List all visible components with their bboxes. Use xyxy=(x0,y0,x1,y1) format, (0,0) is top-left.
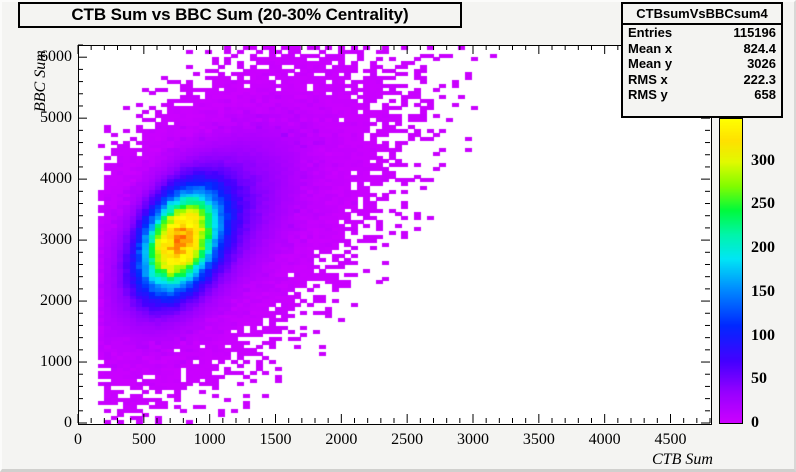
x-tick-label: 2000 xyxy=(311,431,371,449)
stat-label: RMS x xyxy=(628,72,668,88)
stat-row: Mean x824.4 xyxy=(623,41,781,57)
plot-title-box: CTB Sum vs BBC Sum (20-30% Centrality) xyxy=(18,2,462,28)
y-tick-label: 0 xyxy=(12,414,72,432)
x-tick-label: 500 xyxy=(114,431,174,449)
y-tick-label: 3000 xyxy=(12,231,72,249)
y-tick-label: 4000 xyxy=(12,170,72,188)
stat-label: Entries xyxy=(628,25,672,41)
palette-tick-label: 250 xyxy=(751,195,775,213)
stat-row: RMS x222.3 xyxy=(623,72,781,88)
stat-value: 222.3 xyxy=(743,72,776,88)
x-tick-label: 1500 xyxy=(246,431,306,449)
palette-tick-label: 200 xyxy=(751,239,775,257)
x-tick-label: 2500 xyxy=(377,431,437,449)
page-title: CTB Sum vs BBC Sum (20-30% Centrality) xyxy=(71,5,408,25)
y-tick-label: 1000 xyxy=(12,353,72,371)
x-tick-label: 3000 xyxy=(443,431,503,449)
plot-frame xyxy=(78,45,712,425)
histogram-canvas xyxy=(79,46,711,424)
stat-value: 824.4 xyxy=(743,41,776,57)
x-tick-label: 0 xyxy=(48,431,108,449)
statistics-box: CTBsumVsBBCsum4 Entries115196Mean x824.4… xyxy=(621,2,783,118)
stat-value: 115196 xyxy=(733,25,776,41)
stat-row: RMS y658 xyxy=(623,87,781,103)
y-axis-title: BBC Sum xyxy=(32,50,50,112)
palette-tick-label: 50 xyxy=(751,370,767,388)
color-palette xyxy=(719,118,743,424)
stat-label: RMS y xyxy=(628,87,668,103)
palette-tick-label: 100 xyxy=(751,327,775,345)
x-tick-label: 1000 xyxy=(180,431,240,449)
stats-rows: Entries115196Mean x824.4Mean y3026RMS x2… xyxy=(623,25,781,103)
stat-value: 658 xyxy=(754,87,776,103)
root-canvas: CTB Sum vs BBC Sum (20-30% Centrality) 0… xyxy=(0,0,796,472)
stat-label: Mean y xyxy=(628,56,672,72)
x-tick-label: 4500 xyxy=(641,431,701,449)
x-axis-title: CTB Sum xyxy=(652,451,713,469)
stat-row: Mean y3026 xyxy=(623,56,781,72)
stat-value: 3026 xyxy=(747,56,776,72)
stat-row: Entries115196 xyxy=(623,25,781,41)
palette-gradient xyxy=(719,118,743,424)
y-tick-label: 2000 xyxy=(12,292,72,310)
x-tick-label: 3500 xyxy=(509,431,569,449)
palette-tick-label: 0 xyxy=(751,414,759,432)
palette-tick-label: 150 xyxy=(751,283,775,301)
stats-histogram-name: CTBsumVsBBCsum4 xyxy=(623,4,781,25)
stat-label: Mean x xyxy=(628,41,672,57)
x-tick-label: 4000 xyxy=(575,431,635,449)
palette-tick-label: 300 xyxy=(751,152,775,170)
